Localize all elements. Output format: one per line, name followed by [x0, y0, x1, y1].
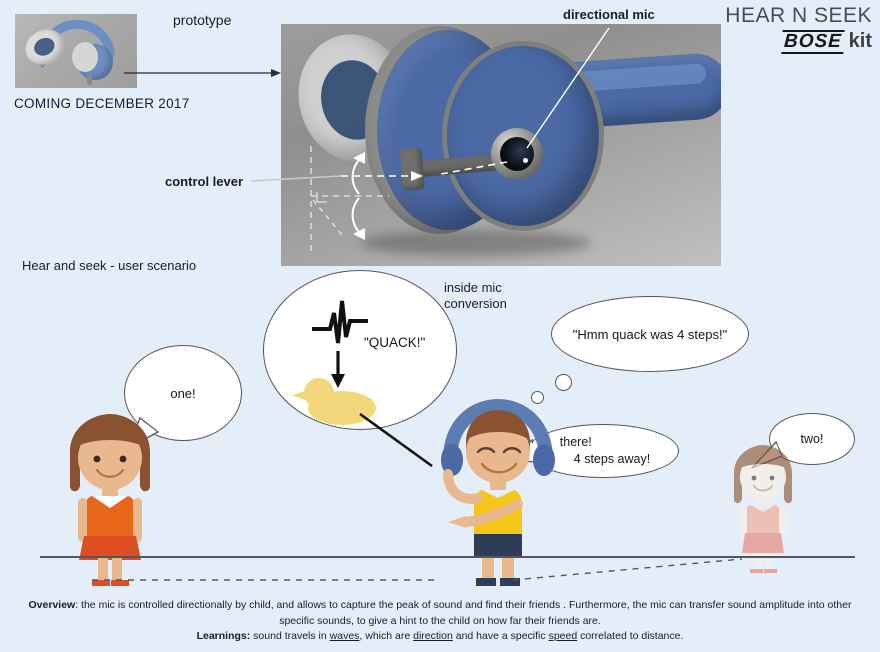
- prototype-caption: prototype: [173, 12, 231, 30]
- learnings-post: correlated to distance.: [577, 630, 683, 642]
- hero-headphone-photo: [281, 24, 721, 266]
- learnings-keyword-waves: waves: [330, 630, 360, 642]
- directional-mic-label: directional mic: [563, 7, 655, 23]
- prototype-photo: [15, 14, 137, 88]
- brand-logo-row: BOSE kit: [712, 30, 872, 54]
- sound-waveform-icon: [312, 301, 368, 343]
- learnings-pre: sound travels in: [250, 630, 329, 642]
- brand-block: HEAR N SEEK BOSE kit: [712, 4, 872, 54]
- hero-control-lever-grip: [399, 147, 425, 191]
- release-note: COMING DECEMBER 2017: [14, 96, 190, 113]
- learnings-label: Learnings:: [197, 630, 251, 642]
- overview-text: : the mic is controlled directionally by…: [75, 599, 851, 626]
- prototype-lever-stem: [87, 74, 92, 85]
- child-girl-right-legs: [718, 553, 808, 575]
- child-girl-right-distant: [718, 443, 808, 558]
- hero-ground-shadow: [361, 230, 591, 256]
- quack-label: "QUACK!": [364, 335, 425, 350]
- hero-mic-lens: [500, 137, 534, 171]
- footer-learnings-line: Learnings: sound travels in waves, which…: [26, 629, 854, 644]
- hmm-quack-thought-bubble: "Hmm quack was 4 steps!": [551, 296, 749, 372]
- learnings-keyword-direction: direction: [413, 630, 453, 642]
- footer-overview-line: Overview: the mic is controlled directio…: [26, 598, 854, 628]
- thought-dot-large: [555, 374, 572, 391]
- child-boy-center-legs: [426, 556, 566, 590]
- child-girl-left-legs: [48, 556, 168, 588]
- boy-shorts-lower: [474, 534, 522, 558]
- boy-right-earcup: [533, 444, 555, 476]
- footer-text-block: Overview: the mic is controlled directio…: [0, 598, 880, 644]
- child-girl-left: [48, 412, 168, 562]
- poster-canvas: HEAR N SEEK BOSE kit prototype COMING DE…: [0, 0, 880, 652]
- learnings-mid2: and have a specific: [453, 630, 549, 642]
- bose-wordmark: BOSE: [781, 30, 844, 54]
- kit-label: kit: [849, 30, 872, 53]
- overview-label: Overview: [29, 599, 76, 611]
- conversion-arrow-icon: [331, 351, 345, 388]
- learnings-mid: , which are: [359, 630, 413, 642]
- bubble-there-line2: 4 steps away!: [556, 451, 650, 468]
- duck-icon: [292, 378, 376, 425]
- prototype-right-earcup: [77, 44, 113, 80]
- bubble-there-line1: there!: [556, 434, 650, 451]
- scenario-section-label: Hear and seek - user scenario: [22, 258, 196, 274]
- brand-title: HEAR N SEEK: [712, 4, 872, 28]
- learnings-keyword-speed: speed: [549, 630, 578, 642]
- control-lever-label: control lever: [165, 174, 243, 190]
